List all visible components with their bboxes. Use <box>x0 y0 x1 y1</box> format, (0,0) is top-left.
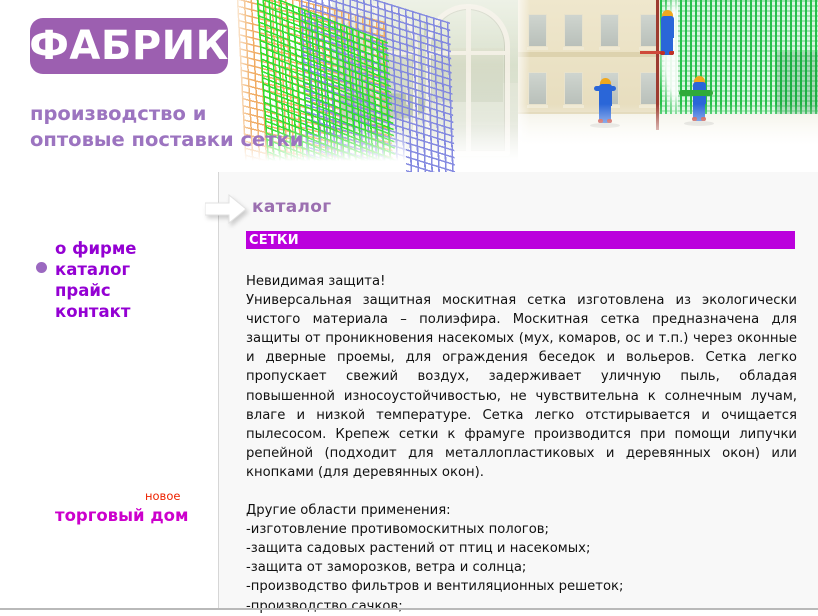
mesh-roll <box>679 90 713 96</box>
category-bar-label: СЕТКИ <box>246 233 299 248</box>
sidebar-item-about[interactable]: о фирме <box>55 238 137 259</box>
main-content-panel: каталог СЕТКИ Невидимая защита! Универса… <box>219 172 818 608</box>
sidebar-item-contact[interactable]: контакт <box>55 301 137 322</box>
site-logo[interactable]: ФАБРИК <box>30 18 228 74</box>
page-root: ФАБРИК производство и оптовые поставки с… <box>0 0 818 616</box>
worker-torso <box>661 16 674 38</box>
use-list-item: -изготовление противомоскитных пологов; <box>246 520 797 539</box>
selected-item-bullet-icon <box>36 262 47 273</box>
worker-on-scaffold <box>654 10 680 56</box>
facade-window <box>564 14 583 47</box>
facade-window <box>528 72 547 105</box>
sidebar-item-price[interactable]: прайс <box>55 280 137 301</box>
site-tagline: производство и оптовые поставки сетки <box>30 101 303 153</box>
sidebar: о фирме каталог прайс контакт новое торг… <box>0 172 218 608</box>
worker-legs <box>661 37 673 55</box>
main-navigation: о фирме каталог прайс контакт <box>55 238 137 322</box>
sidebar-item-trading-house[interactable]: торговый дом <box>55 505 188 526</box>
logo-text: ФАБРИК <box>29 26 229 66</box>
sidebar-item-catalog[interactable]: каталог <box>55 259 137 280</box>
use-list-item: -защита садовых растений от птиц и насек… <box>246 539 797 558</box>
category-bar: СЕТКИ <box>246 231 795 249</box>
facade-window <box>528 14 547 47</box>
facade-window <box>564 72 583 105</box>
photo-fade-bottom <box>508 104 818 156</box>
page-title: каталог <box>252 197 331 217</box>
use-list-item: -производство сачков; <box>246 597 797 616</box>
new-badge: новое <box>145 490 180 503</box>
article-paragraph: Универсальная защитная москитная сетка и… <box>246 291 797 482</box>
arrow-right-icon <box>205 194 247 224</box>
main-content: каталог СЕТКИ Невидимая защита! Универса… <box>219 172 818 608</box>
footer-rule <box>0 608 818 610</box>
uses-heading: Другие области применения: <box>246 501 797 520</box>
site-header: ФАБРИК производство и оптовые поставки с… <box>0 0 818 172</box>
use-list-item: -защита от заморозков, ветра и солнца; <box>246 558 797 577</box>
worker-torso <box>599 84 612 106</box>
use-list-item: -производство фильтров и вентиляционных … <box>246 577 797 596</box>
facade-window <box>600 14 619 47</box>
article-body: Невидимая защита! Универсальная защитная… <box>246 272 797 616</box>
article-intro: Невидимая защита! <box>246 272 797 291</box>
